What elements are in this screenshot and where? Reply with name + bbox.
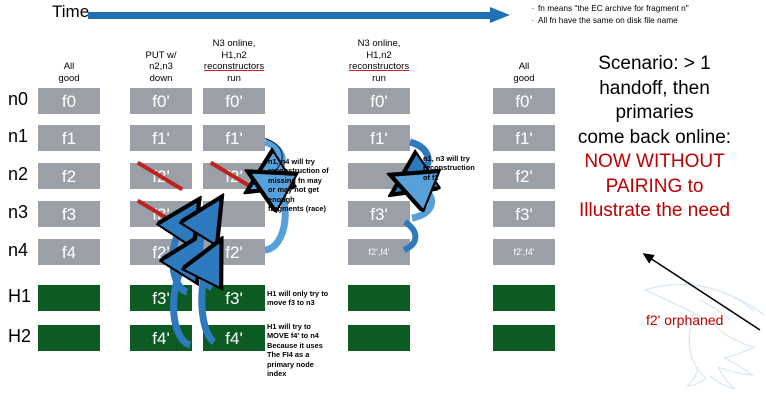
cell-c4-h1 (493, 285, 555, 311)
cell-c4-n3: f3' (493, 201, 555, 227)
cell-c0-n1: f1 (38, 125, 100, 151)
scenario-text: Scenario: > 1 handoff, then primaries co… (543, 52, 766, 224)
cell-label: f0' (515, 93, 532, 110)
cell-label: f4 (62, 244, 76, 261)
cell-c4-n1: f1' (493, 125, 555, 151)
cell-label: f4' (225, 330, 242, 347)
scenario-line-7: Illustrate the need (543, 199, 766, 224)
scenario-line-5: NOW WITHOUT (543, 150, 766, 175)
column-header-line: N3 online, (184, 38, 284, 50)
arrow-n3-to-n2-col4 (412, 186, 432, 218)
cell-c2-n0: f0' (203, 88, 265, 114)
scenario-line-3: primaries (543, 101, 766, 126)
cell-label: f0' (225, 93, 242, 110)
cell-c3-n2 (348, 163, 410, 189)
cell-c1-h1: f3' (130, 285, 192, 311)
column-header-line: N3 online, (329, 38, 429, 50)
legend-bullet-1: · All fn have the same on disk file name (528, 15, 766, 27)
cell-label: f2' (225, 244, 242, 261)
cell-label: f1' (370, 130, 387, 147)
cell-c1-n1: f1' (130, 125, 192, 151)
cell-c3-h2 (348, 325, 410, 351)
cell-c0-n3: f3 (38, 201, 100, 227)
column-header-4: Allgood (474, 61, 574, 84)
cell-c0-h1 (38, 285, 100, 311)
cell-c0-n4: f4 (38, 239, 100, 265)
column-header-line: reconstructors (329, 61, 429, 73)
column-header-line: run (184, 73, 284, 85)
legend-bullet-0: · fn means "the EC archive for fragment … (528, 3, 766, 15)
cell-label: f2' (515, 168, 532, 185)
cell-c0-h2 (38, 325, 100, 351)
cell-label: f0' (152, 93, 169, 110)
cell-label: f1' (515, 130, 532, 147)
column-header-line: H1,n2 (329, 50, 429, 62)
scenario-line-6: PAIRING to (543, 175, 766, 200)
cell-label: f3' (225, 290, 242, 307)
cell-label: f2',f4' (514, 248, 535, 257)
legend-bullet-text: All fn have the same on disk file name (538, 15, 766, 27)
cell-c1-n4: f2' (130, 239, 192, 265)
legend-bullets: · fn means "the EC archive for fragment … (528, 3, 766, 26)
column-header-line: All (474, 61, 574, 73)
cell-label: f2 (62, 168, 76, 185)
cell-c2-n3 (203, 201, 265, 227)
cell-c3-n4: f2',f4' (348, 239, 410, 265)
cell-c4-h2 (493, 325, 555, 351)
annotation-h1-move-f4: H1 will try to MOVE f4' to n4 Because it… (267, 322, 333, 378)
annotation-recon-col3: n1, n4 will try reconstruction of missin… (268, 157, 330, 213)
cell-c4-n0: f0' (493, 88, 555, 114)
cell-c1-h2: f4' (130, 325, 192, 351)
cell-label: f3' (152, 290, 169, 307)
column-header-line: All (19, 61, 119, 73)
cell-label: f0 (62, 93, 76, 110)
cell-label: f4' (152, 330, 169, 347)
cell-label: f3 (62, 206, 76, 223)
cell-c4-n2: f2' (493, 163, 555, 189)
orphan-label: f2' orphaned (646, 312, 723, 328)
scenario-line-2: handoff, then (543, 77, 766, 102)
column-header-line: H1,n2 (184, 50, 284, 62)
column-header-line: good (19, 73, 119, 85)
column-header-3: N3 online,H1,n2reconstructorsrun (329, 38, 429, 84)
column-header-0: Allgood (19, 61, 119, 84)
column-header-2: N3 online,H1,n2reconstructorsrun (184, 38, 284, 84)
column-header-line: good (474, 73, 574, 85)
column-header-line: reconstructors (184, 61, 284, 73)
annotation-recon-col4: n1, n3 will try reconstruction of f2 (423, 154, 481, 182)
cell-c0-n0: f0 (38, 88, 100, 114)
scenario-line-1: Scenario: > 1 (543, 52, 766, 77)
annotation-h1-move-f3: H1 will only try to move f3 to n3 (267, 289, 337, 308)
legend-bullet-text: fn means "the EC archive for fragment n" (538, 3, 766, 15)
cell-label: f0' (370, 93, 387, 110)
cell-c3-n3: f3' (348, 201, 410, 227)
cell-label: f1' (225, 130, 242, 147)
cell-c2-h1: f3' (203, 285, 265, 311)
cell-c2-n4: f2' (203, 239, 265, 265)
cell-label: f1' (152, 130, 169, 147)
cell-c4-n4: f2',f4' (493, 239, 555, 265)
slide-canvas: Time · fn means "the EC archive for frag… (0, 0, 766, 408)
cell-c2-n1: f1' (203, 125, 265, 151)
cell-label: f1 (62, 130, 76, 147)
cell-c3-h1 (348, 285, 410, 311)
cell-c2-h2: f4' (203, 325, 265, 351)
cell-label: f2',f4' (369, 248, 390, 257)
column-header-line: run (329, 73, 429, 85)
cell-label: f3' (370, 206, 387, 223)
bullet-dot-icon: · (528, 3, 538, 15)
cell-c0-n2: f2 (38, 163, 100, 189)
scenario-line-4: come back online: (543, 126, 766, 151)
cell-c3-n1: f1' (348, 125, 410, 151)
cell-label: f2' (152, 244, 169, 261)
bullet-dot-icon: · (528, 15, 538, 27)
time-label: Time (52, 2, 89, 22)
cell-c3-n0: f0' (348, 88, 410, 114)
time-arrow-icon (88, 9, 513, 23)
cell-label: f3' (515, 206, 532, 223)
cell-c1-n0: f0' (130, 88, 192, 114)
